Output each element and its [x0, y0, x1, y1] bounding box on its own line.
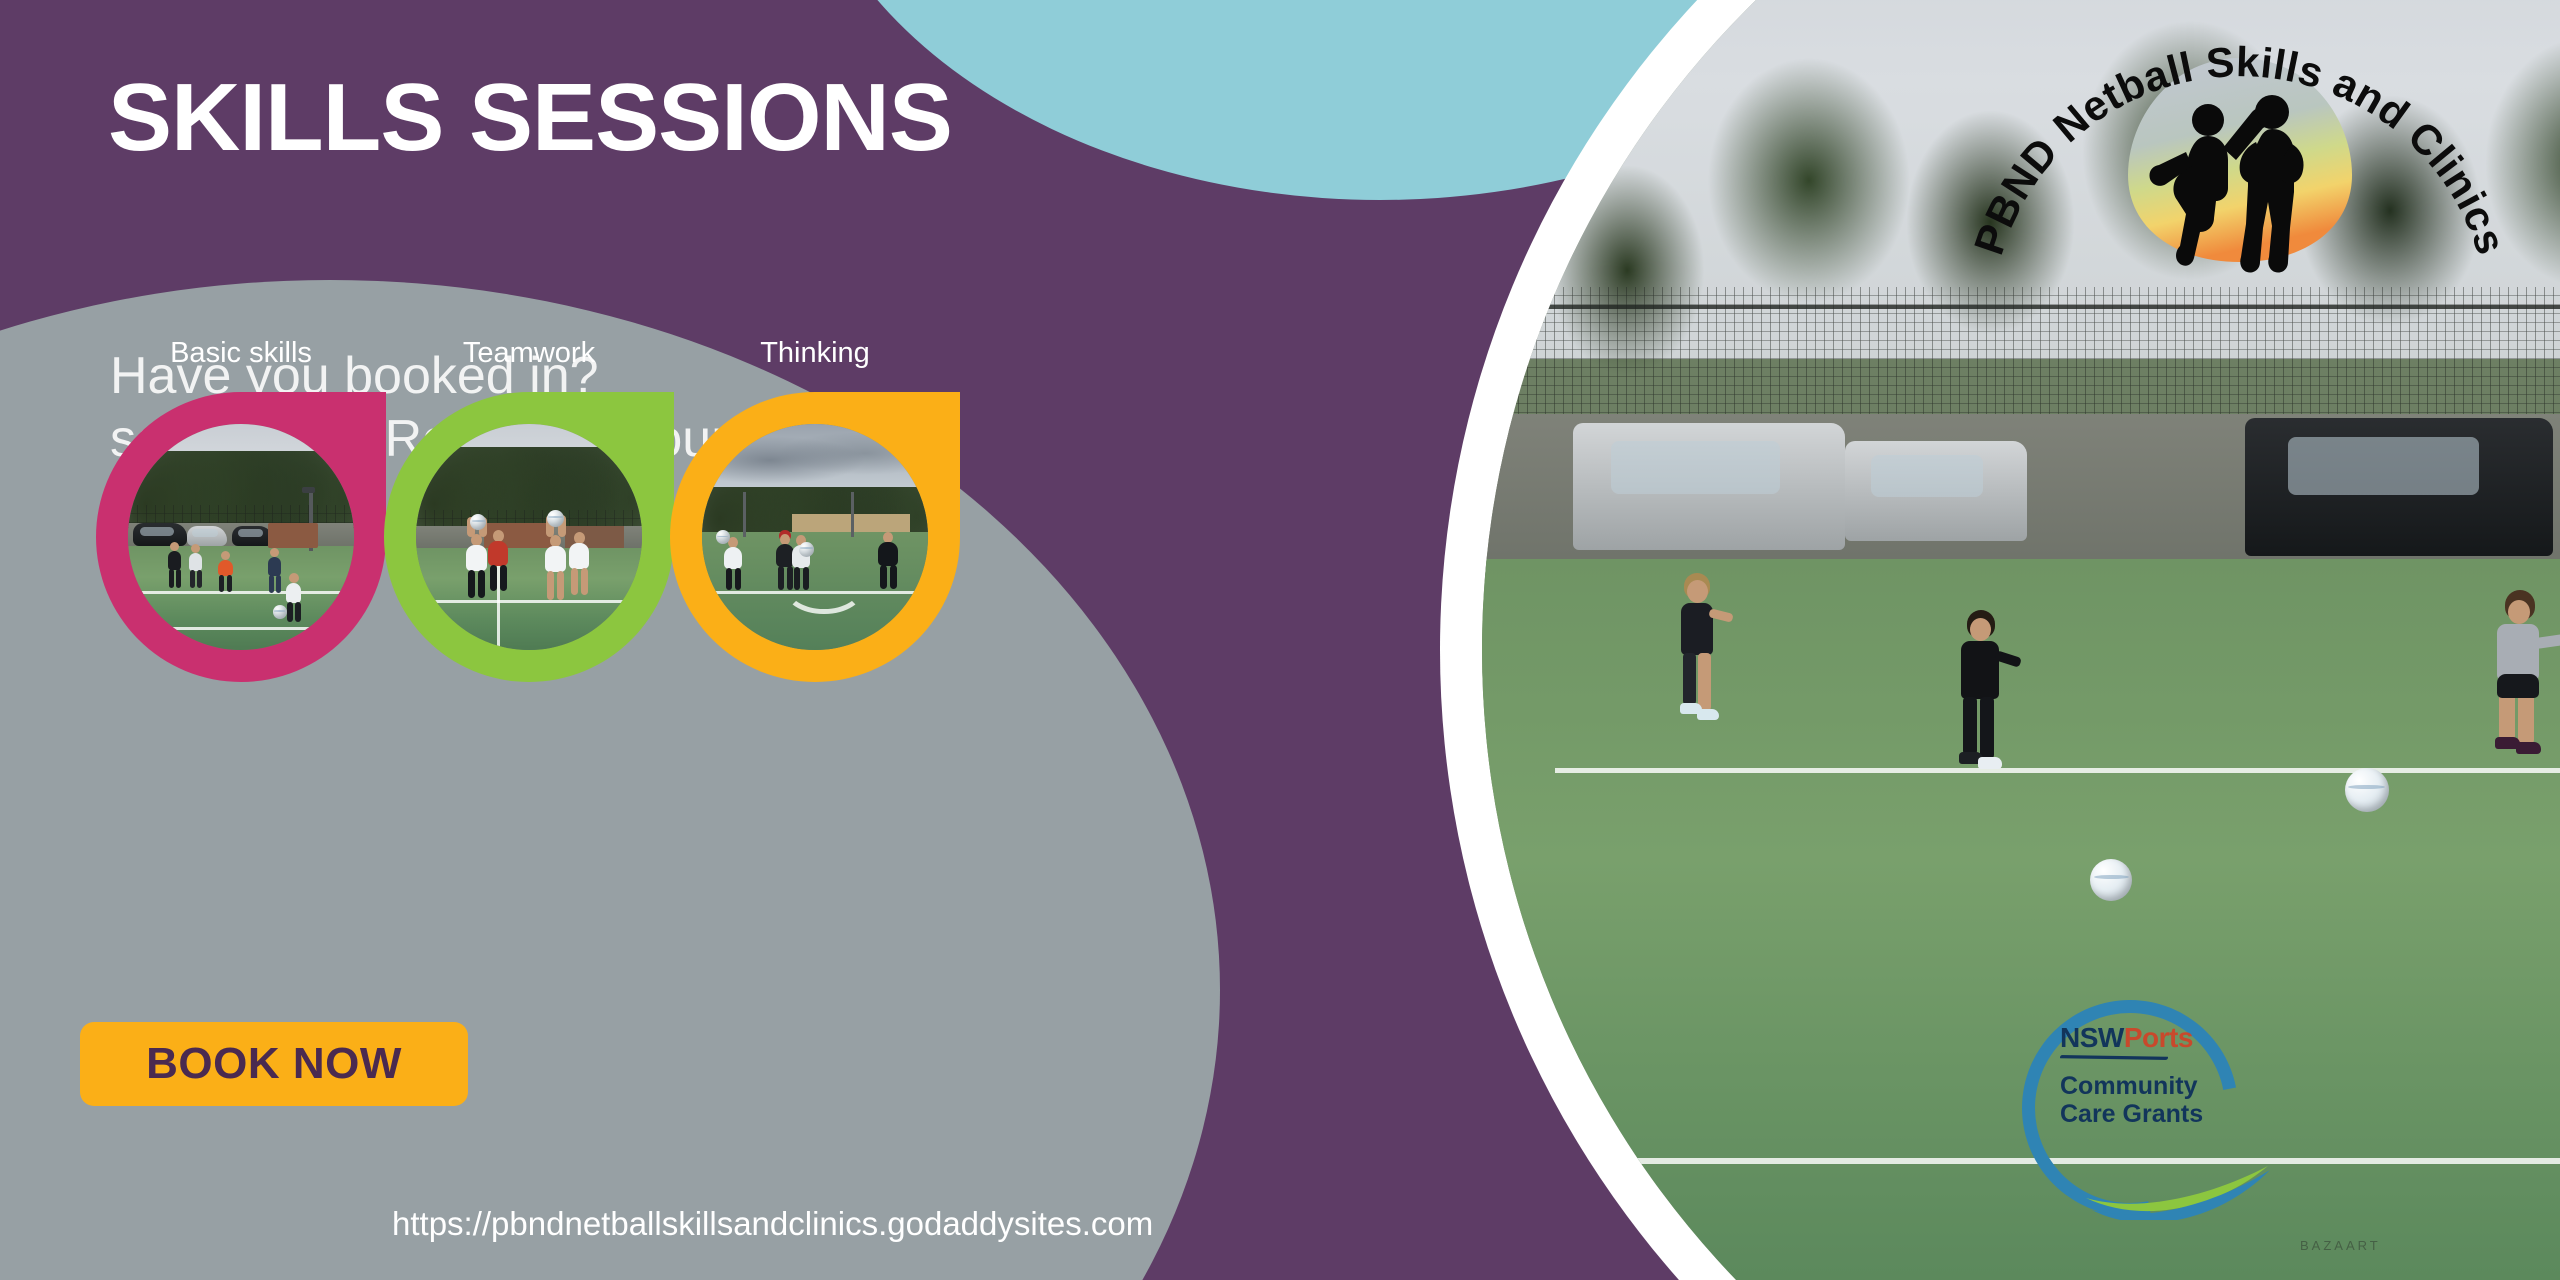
category-label: Basic skills — [96, 337, 386, 370]
netball-passing-photo-icon — [416, 424, 642, 650]
brand-logo: PBND Netball Skills and Clinics — [1980, 0, 2500, 300]
book-now-button[interactable]: BOOK NOW — [80, 1022, 468, 1106]
website-url[interactable]: https://pbndnetballskillsandclinics.goda… — [392, 1205, 1153, 1243]
category-ring — [670, 392, 960, 682]
sponsor-program-name: Community Care Grants — [2060, 1072, 2270, 1128]
sponsor-underline-icon — [2060, 1055, 2168, 1060]
poster-canvas: SKILLS SESSIONS Have you booked in? sess… — [0, 0, 2560, 1280]
sponsor-swoosh-icon — [2082, 1140, 2272, 1220]
sponsor-name-primary: NSW — [2060, 1022, 2124, 1053]
netball-drill-photo-icon — [128, 424, 354, 650]
category-label: Teamwork — [384, 337, 674, 370]
sponsor-logo: NSWPorts Community Care Grants — [2022, 1000, 2272, 1240]
category-ring — [96, 392, 386, 682]
page-title: SKILLS SESSIONS — [108, 68, 952, 169]
sponsor-wordmark: NSWPorts — [2060, 1022, 2270, 1054]
sponsor-name-secondary: Ports — [2124, 1022, 2193, 1053]
image-watermark: BAZAART — [2300, 1238, 2381, 1253]
category-label: Thinking — [670, 337, 960, 370]
netball-tactics-photo-icon — [702, 424, 928, 650]
category-ring — [384, 392, 674, 682]
